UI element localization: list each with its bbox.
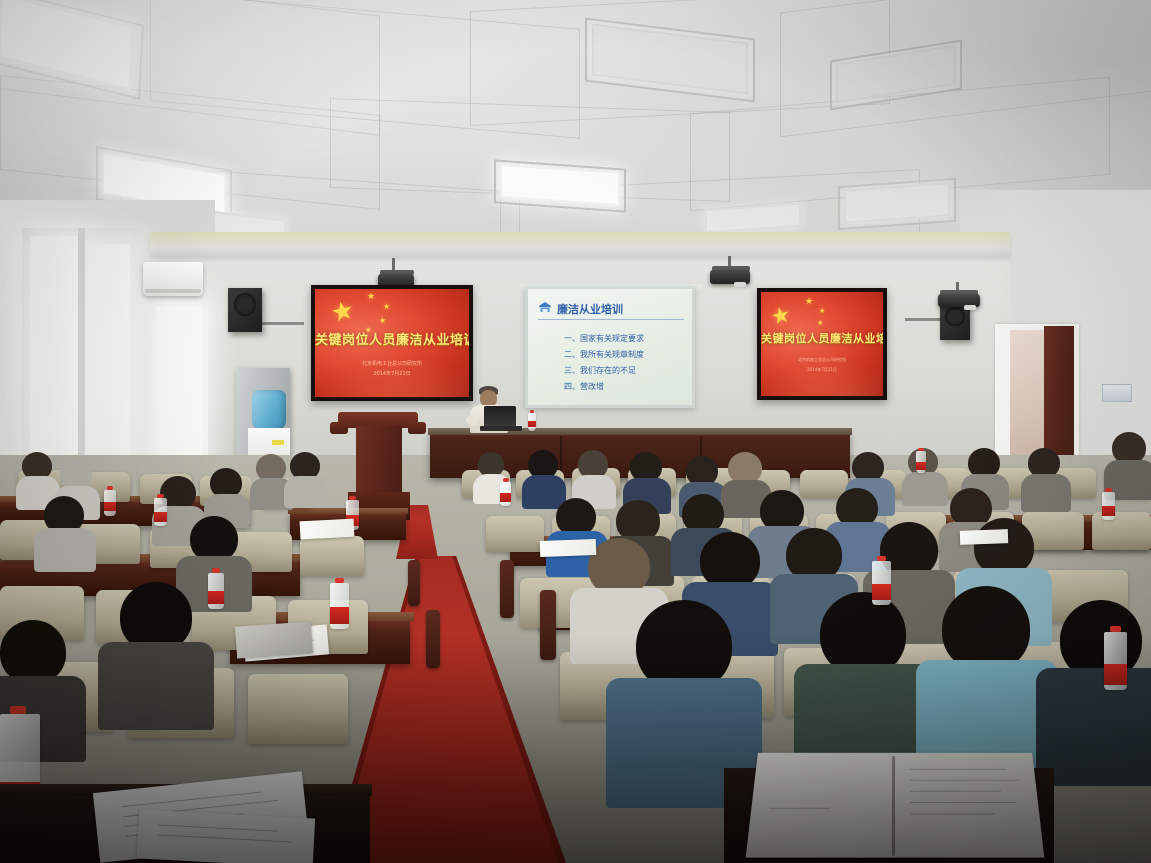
lectern-column <box>356 426 402 496</box>
bottle-cap <box>10 706 26 714</box>
wall-soffit <box>150 232 1010 258</box>
right-screen-title: 关键岗位人员廉洁从业培训 <box>761 330 883 346</box>
center-screen-title: 廉洁从业培训 <box>557 301 623 317</box>
slide-item: 三、我们存在的不足 <box>564 365 636 376</box>
center-projection-screen: 廉洁从业培训 一、国家有关规定要求 二、我所有关规章制度 三、我们存在的不足 四… <box>528 289 692 405</box>
slide-item: 二、我所有关规章制度 <box>564 349 644 360</box>
slide-item: 一、国家有关规定要求 <box>564 333 644 344</box>
bottle-label <box>104 502 116 511</box>
blue-shield-icon <box>538 301 552 314</box>
paper-sheet <box>540 539 597 557</box>
air-conditioner <box>143 262 203 296</box>
left-screen-title: 关键岗位人员廉洁从业培训 <box>315 329 469 348</box>
window-pane <box>86 244 130 464</box>
laptop-lid <box>484 406 516 428</box>
title-divider <box>538 319 684 320</box>
open-notebook <box>746 753 1045 858</box>
speaker-bracket <box>905 318 945 321</box>
auditorium-seat <box>1092 512 1151 550</box>
tablet-device <box>235 621 313 658</box>
bottle-label <box>330 607 349 624</box>
water-bottle-jug <box>252 390 286 432</box>
flag-star-small: ★ <box>367 293 375 302</box>
notebook-spine <box>892 756 895 855</box>
seat-armrest <box>408 560 420 606</box>
bottle-label <box>208 591 224 604</box>
person-head <box>0 620 66 684</box>
flag-star-large: ★ <box>329 297 357 327</box>
left-projection-screen: ★ ★ ★ ★ ★ 关键岗位人员廉洁从业培训 北京机电工业总公司研究所 2014… <box>315 289 469 397</box>
bottle-label <box>916 462 926 470</box>
person-torso <box>522 475 566 509</box>
paper-sheet <box>300 519 355 540</box>
slide-item: 四、营改增 <box>564 381 604 392</box>
bottle-label <box>872 584 891 600</box>
notebook-line <box>910 769 1007 770</box>
window-pane <box>156 306 202 464</box>
person-torso <box>1021 474 1071 512</box>
flag-star-small: ★ <box>379 317 386 325</box>
lectern-wing-left <box>330 422 348 434</box>
left-screen-subtitle-org: 北京机电工业总公司研究所 <box>315 360 469 367</box>
notebook-line <box>910 791 1001 792</box>
notebook-line <box>910 780 1020 781</box>
right-projection-screen: ★ ★ ★ ★ 关键岗位人员廉洁从业培训 北京机电工业总公司研究所 2014年7… <box>761 292 883 396</box>
window-pane <box>30 236 78 470</box>
person-torso <box>284 476 328 508</box>
lectern-wing-right <box>408 422 426 434</box>
person-torso <box>34 528 96 572</box>
paper-sheet <box>960 529 1008 545</box>
flag-star-small: ★ <box>805 298 813 307</box>
left-screen-subtitle-date: 2014年7月21日 <box>315 370 469 377</box>
dispenser-label <box>272 440 284 445</box>
right-screen-subtitle-org: 北京机电工业总公司研究所 <box>761 357 883 363</box>
lectern <box>330 412 426 522</box>
flag-star-small: ★ <box>817 320 823 327</box>
wall-speaker <box>228 288 262 332</box>
bottle-label <box>154 512 167 522</box>
left-screen-shell: ★ ★ ★ ★ ★ 关键岗位人员廉洁从业培训 北京机电工业总公司研究所 2014… <box>311 285 473 401</box>
bottle-label <box>528 421 536 427</box>
projector-lens <box>734 282 746 287</box>
right-screen-shell: ★ ★ ★ ★ 关键岗位人员廉洁从业培训 北京机电工业总公司研究所 2014年7… <box>757 288 887 400</box>
notebook-line <box>910 802 1016 803</box>
seat-armrest <box>500 560 514 618</box>
notebook-line <box>910 814 995 815</box>
flag-star-small: ★ <box>383 303 390 311</box>
auditorium-seat <box>486 516 544 552</box>
flag-star-large: ★ <box>769 304 793 330</box>
speaker-bracket <box>258 322 304 325</box>
auditorium-seat <box>300 536 364 576</box>
projector-lens <box>964 305 976 310</box>
paper-line <box>158 834 292 842</box>
window-mullion <box>78 228 85 478</box>
bottle-label <box>1104 664 1127 685</box>
person-torso <box>98 642 214 730</box>
flag-star-small: ★ <box>819 308 825 315</box>
seat-armrest <box>540 590 556 660</box>
seat-armrest <box>426 610 440 668</box>
wall-plate <box>1102 384 1132 402</box>
laptop-base <box>480 426 522 431</box>
auditorium-seat <box>248 674 348 744</box>
classroom-photo-scene: ★ ★ ★ ★ ★ 关键岗位人员廉洁从业培训 北京机电工业总公司研究所 2014… <box>0 0 1151 863</box>
bottle-label <box>500 493 511 502</box>
notebook-line <box>769 808 829 809</box>
center-screen-shell: 廉洁从业培训 一、国家有关规定要求 二、我所有关规章制度 三、我们存在的不足 四… <box>525 286 695 408</box>
bottle-label <box>1102 506 1115 516</box>
paper-line <box>159 824 279 831</box>
ac-vent <box>145 289 201 293</box>
paper-sheet <box>137 809 315 863</box>
person-torso <box>902 472 948 506</box>
paper-line <box>122 792 261 808</box>
right-screen-subtitle-date: 2014年7月21日 <box>761 367 883 373</box>
